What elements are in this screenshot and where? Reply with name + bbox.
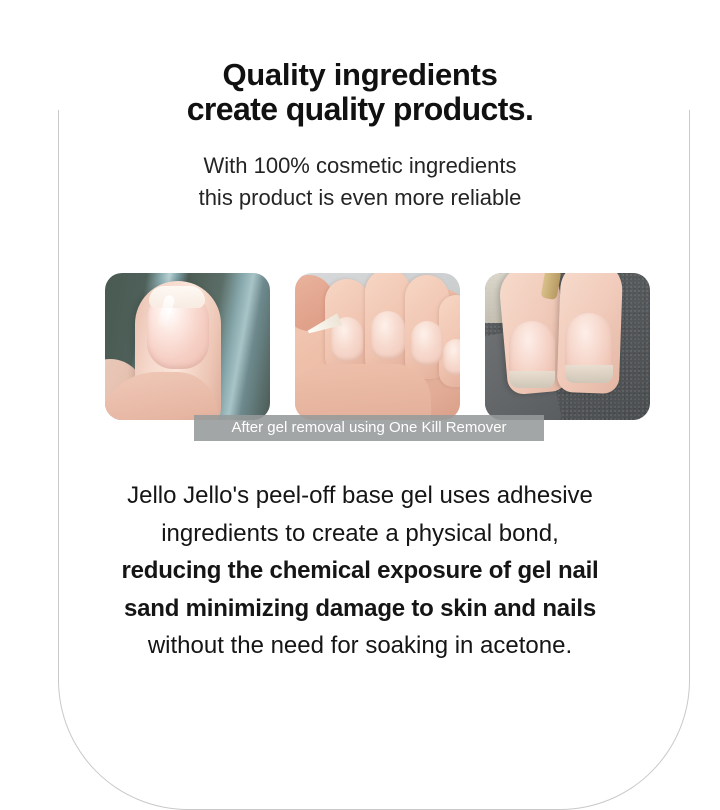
photo-1-backdrop (105, 273, 270, 420)
photo-2-nail-2 (371, 311, 405, 359)
photo-1-nail-tip (149, 286, 205, 308)
body-line-4: sand minimizing damage to skin and nails (0, 590, 720, 628)
body-line-5: without the need for soaking in acetone. (0, 627, 720, 665)
photo-2-backdrop (295, 273, 460, 420)
photo-2-nail-4 (443, 339, 460, 375)
body-line-3: reducing the chemical exposure of gel na… (0, 552, 720, 590)
product-photo-2 (295, 273, 460, 420)
photo-caption-text: After gel removal using One Kill Remover (231, 415, 506, 441)
photo-3-backdrop (485, 273, 650, 420)
photo-2-lower-palm (295, 364, 431, 420)
subtitle-line-1: With 100% cosmetic ingredients (0, 150, 720, 182)
headline-line-1: Quality ingredients (0, 57, 720, 92)
subtitle: With 100% cosmetic ingredients this prod… (0, 150, 720, 214)
product-photo-1 (105, 273, 270, 420)
photo-3-nail-1-free-edge (509, 371, 555, 388)
photo-caption-bar: After gel removal using One Kill Remover (194, 415, 544, 441)
photo-2-nail-3 (411, 321, 443, 365)
body-line-1: Jello Jello's peel-off base gel uses adh… (0, 477, 720, 515)
body-paragraph: Jello Jello's peel-off base gel uses adh… (0, 477, 720, 665)
photo-strip (105, 273, 580, 420)
subtitle-line-2: this product is even more reliable (0, 182, 720, 214)
product-photo-3 (485, 273, 650, 420)
body-line-2: ingredients to create a physical bond, (0, 515, 720, 553)
page-title: Quality ingredients create quality produ… (0, 57, 720, 127)
headline-line-2: create quality products. (0, 92, 720, 127)
photo-3-nail-2-free-edge (565, 365, 613, 383)
promo-content: Quality ingredients create quality produ… (0, 0, 720, 720)
